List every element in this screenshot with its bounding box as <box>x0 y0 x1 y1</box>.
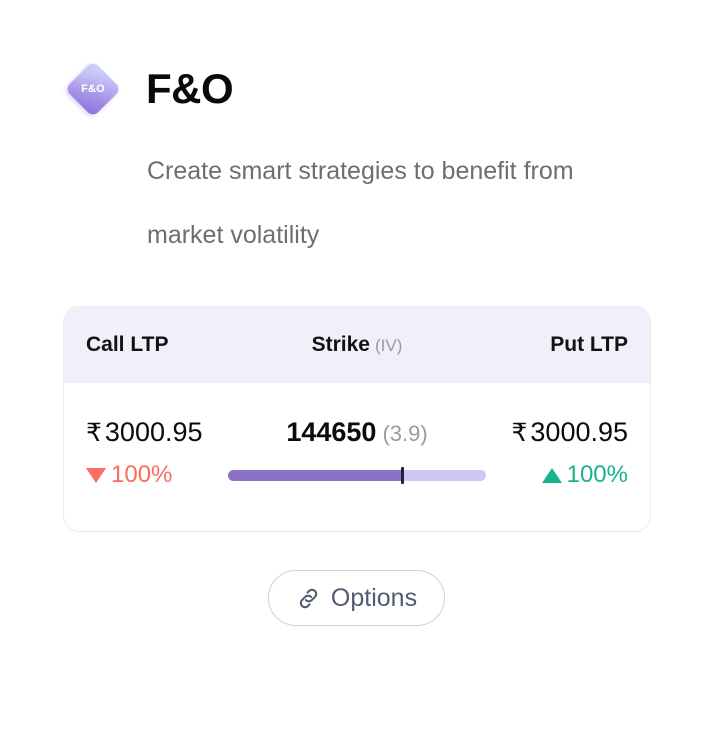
strike-iv-value: (3.9) <box>382 421 427 446</box>
strike-position-slider[interactable] <box>228 470 486 481</box>
column-header-strike-label: Strike <box>312 333 370 356</box>
options-button-label: Options <box>331 584 417 613</box>
put-change-group: 100% <box>486 461 628 489</box>
column-header-put-ltp: Put LTP <box>447 333 628 357</box>
column-header-call-ltp: Call LTP <box>86 333 267 357</box>
call-ltp-number: 3000.95 <box>105 417 203 447</box>
page-subtitle: Create smart strategies to benefit from … <box>147 139 647 267</box>
strike-number: 144650 <box>286 417 376 447</box>
link-chain-icon <box>296 586 321 611</box>
progress-bar-fill <box>228 470 401 481</box>
option-chain-card: Call LTP Strike(IV) Put LTP ₹3000.95 144… <box>63 306 651 532</box>
put-change-value: 100% <box>567 461 628 489</box>
table-row[interactable]: ₹3000.95 144650(3.9) ₹3000.95 <box>86 417 628 448</box>
page-title: F&O <box>146 68 233 110</box>
column-header-iv-note: (IV) <box>375 336 402 355</box>
option-chain-delta-row: 100% 100% <box>86 461 628 489</box>
column-header-strike: Strike(IV) <box>267 333 448 357</box>
fno-logo: F&O <box>62 58 124 120</box>
progress-bar-track[interactable] <box>228 470 486 481</box>
rupee-icon: ₹ <box>512 419 528 447</box>
options-button[interactable]: Options <box>268 570 445 626</box>
put-ltp-value: ₹3000.95 <box>447 417 628 448</box>
triangle-up-icon <box>542 468 562 483</box>
put-ltp-number: 3000.95 <box>530 417 628 447</box>
call-change-group: 100% <box>86 461 228 489</box>
app-header: F&O F&O <box>62 58 233 120</box>
fno-card-page: F&O F&O Create smart strategies to benef… <box>0 0 712 738</box>
rupee-icon: ₹ <box>86 419 102 447</box>
triangle-down-icon <box>86 468 106 483</box>
option-chain-header-row: Call LTP Strike(IV) Put LTP <box>64 307 650 383</box>
call-ltp-value: ₹3000.95 <box>86 417 267 448</box>
diamond-gradient-icon <box>65 61 122 118</box>
strike-value: 144650(3.9) <box>267 417 448 448</box>
call-change-value: 100% <box>111 461 172 489</box>
progress-bar-marker[interactable] <box>401 467 404 484</box>
option-chain-body: ₹3000.95 144650(3.9) ₹3000.95 100% <box>64 383 650 489</box>
